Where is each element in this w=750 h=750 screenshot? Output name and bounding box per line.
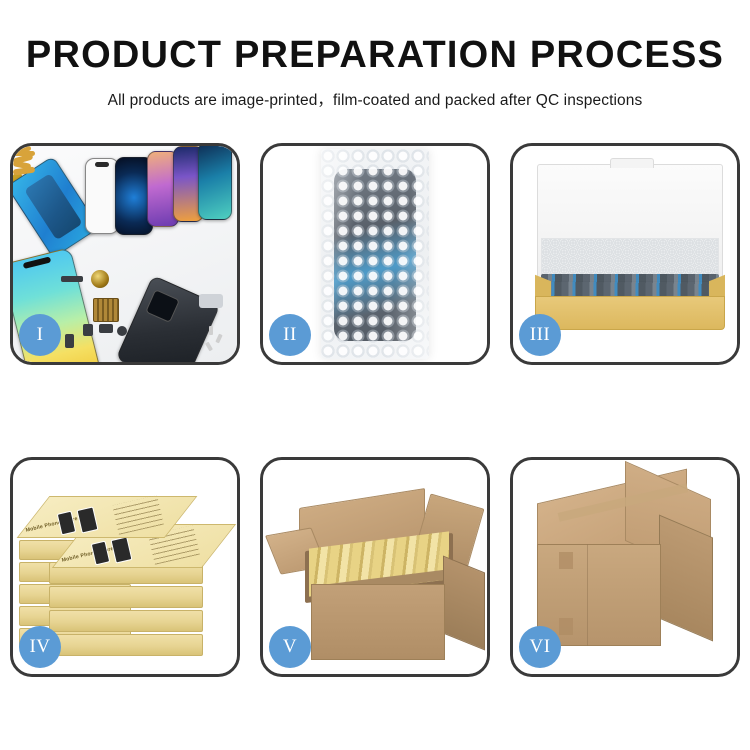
step-badge-6: VI bbox=[519, 626, 561, 668]
connector-grid-icon bbox=[93, 298, 119, 322]
carton-right-side bbox=[443, 556, 485, 651]
step-panel-5: V bbox=[260, 457, 490, 677]
process-steps-grid: I II III bbox=[10, 143, 740, 677]
sim-tray-part bbox=[65, 334, 74, 348]
small-component-2 bbox=[99, 324, 113, 333]
step-panel-1: I bbox=[10, 143, 240, 365]
page-subtitle: All products are image-printed，film-coat… bbox=[0, 88, 750, 110]
step-badge-4: IV bbox=[19, 626, 61, 668]
step-badge-1: I bbox=[19, 314, 61, 356]
step-panel-4: Mobile Phone Spare Parts Mobile Phone Sp… bbox=[10, 457, 240, 677]
sealed-carton-right-side bbox=[659, 515, 713, 642]
sealing-tape-front-bottom bbox=[559, 618, 573, 635]
mailer-box-front bbox=[535, 296, 725, 330]
carton-front-face bbox=[311, 584, 445, 660]
step-badge-2: II bbox=[269, 314, 311, 356]
phone-screen-white bbox=[85, 158, 119, 234]
page-title: PRODUCT PREPARATION PROCESS bbox=[0, 34, 750, 77]
step-panel-3: III bbox=[510, 143, 740, 365]
phone-back-housing bbox=[115, 275, 220, 362]
phone-screen-teal bbox=[198, 146, 232, 220]
plastic-sheen bbox=[321, 149, 429, 359]
bubble-wrap-bag bbox=[321, 149, 429, 359]
sealing-tape-front-top bbox=[559, 552, 573, 569]
product-preparation-infographic: PRODUCT PREPARATION PROCESS All products… bbox=[0, 0, 750, 750]
step-panel-2: II bbox=[260, 143, 490, 365]
screw-3 bbox=[205, 342, 213, 352]
tool-part bbox=[199, 294, 223, 308]
carton-seam bbox=[587, 544, 588, 646]
step-badge-3: III bbox=[519, 314, 561, 356]
kraft-box-edge-9 bbox=[49, 634, 203, 656]
kraft-box-edge-7 bbox=[49, 586, 203, 608]
camera-module-icon bbox=[91, 270, 109, 288]
screw-2 bbox=[215, 334, 222, 344]
step-panel-6: VI bbox=[510, 457, 740, 677]
header: PRODUCT PREPARATION PROCESS All products… bbox=[0, 0, 750, 110]
step-badge-5: V bbox=[269, 626, 311, 668]
speaker-part bbox=[61, 276, 83, 282]
sealed-carton-front bbox=[537, 544, 661, 646]
screw-1 bbox=[209, 326, 213, 335]
kraft-box-edge-8 bbox=[49, 610, 203, 632]
small-component-1 bbox=[83, 324, 93, 336]
small-component-3 bbox=[117, 326, 127, 336]
